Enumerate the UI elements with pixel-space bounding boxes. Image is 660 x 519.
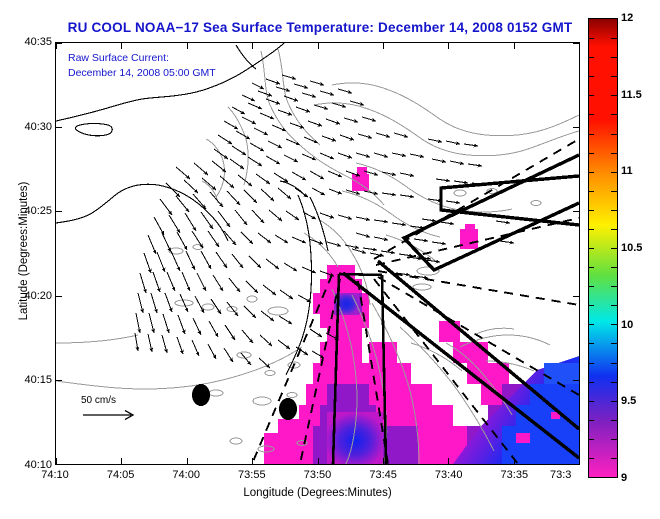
x-tick-label: 73:40 [419, 469, 479, 481]
colorbar-label-wrap: Temperature (°C) [625, 160, 655, 360]
annotation-text: Raw Surface Current: December 14, 2008 0… [68, 51, 216, 81]
velocity-scale-label: 50 cm/s [81, 395, 143, 406]
x-tick-label: 74:05 [91, 469, 151, 481]
colorbar-ticks [589, 19, 619, 477]
colorbar-tick-label: 12 [621, 12, 660, 24]
x-tick-label: 73:3 [550, 469, 584, 481]
velocity-scale-legend: 50 cm/s [81, 395, 143, 429]
colorbar[interactable] [588, 18, 618, 478]
colorbar-tick-label: 9 [621, 472, 660, 484]
x-axis-label: Longitude (Degrees:Minutes) [55, 487, 580, 499]
x-tick-label: 74:00 [156, 469, 216, 481]
x-tick-label: 73:50 [288, 469, 348, 481]
sst-map-plot[interactable]: Raw Surface Current: December 14, 2008 0… [55, 42, 580, 465]
y-axis-label: Latitude (Degrees:Minutes) [18, 161, 30, 341]
station-marker-1[interactable] [192, 384, 210, 406]
page-title: RU COOL NOAA−17 Sea Surface Temperature:… [55, 20, 585, 35]
x-tick-label: 73:45 [353, 469, 413, 481]
x-axis: 74:10 74:05 74:00 73:55 73:50 73:45 73:4… [55, 467, 580, 487]
station-marker-2[interactable] [279, 398, 297, 420]
y-tick-label: 40:30 [2, 121, 52, 133]
y-tick-label: 40:35 [2, 36, 52, 48]
colorbar-tick-label: 9.5 [621, 395, 660, 407]
y-tick-label: 40:15 [2, 374, 52, 386]
x-tick-label: 74:10 [25, 469, 85, 481]
x-tick-label: 73:35 [484, 469, 544, 481]
annotation-line-1: Raw Surface Current: [68, 51, 216, 66]
annotation-line-2: December 14, 2008 05:00 GMT [68, 66, 216, 81]
x-tick-label: 73:55 [222, 469, 282, 481]
right-arrow-icon [81, 406, 143, 424]
colorbar-tick-label: 11.5 [621, 89, 660, 101]
